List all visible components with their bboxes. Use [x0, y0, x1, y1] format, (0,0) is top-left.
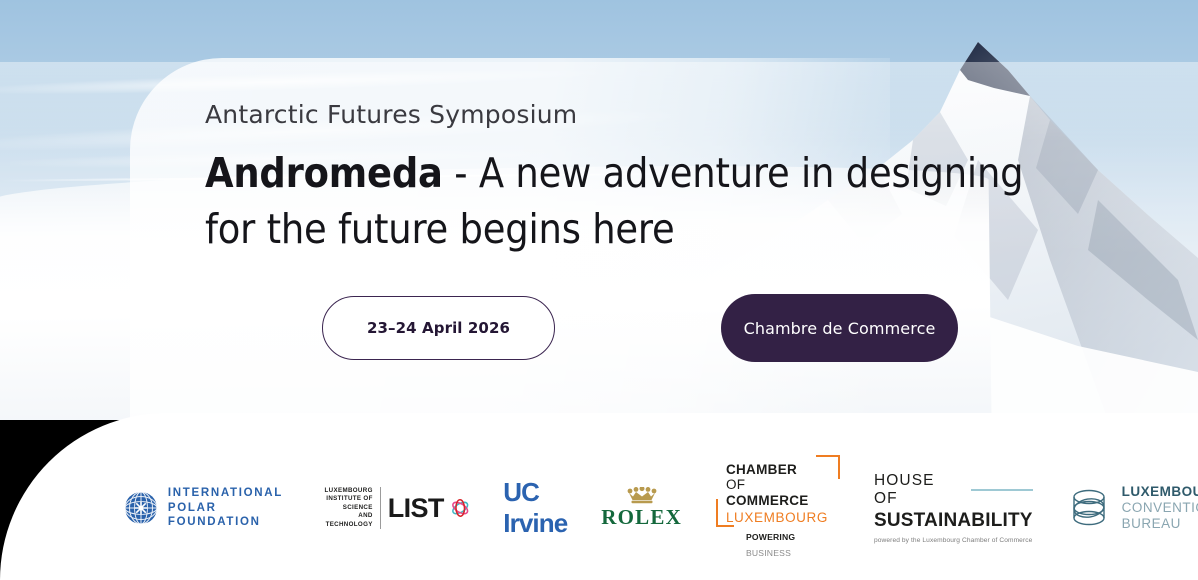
coc-line-2-commerce: COMMERCE — [726, 493, 809, 508]
lcb-text: LUXEMBOURG CONVENTION BUREAU — [1122, 484, 1198, 532]
globe-icon — [124, 491, 158, 525]
lcb-line-1: LUXEMBOURG — [1122, 484, 1198, 500]
logo-house-of-sustainability[interactable]: HOUSE OF SUSTAINABILITY powered by the L… — [874, 472, 1033, 544]
logo-luxembourg-convention-bureau[interactable]: LUXEMBOURG CONVENTION BUREAU — [1067, 484, 1198, 532]
coc-line-2-of: OF — [726, 477, 745, 492]
logo-rolex[interactable]: ROLEX — [601, 487, 682, 530]
hero-banner-page: Antarctic Futures Symposium Andromeda - … — [0, 0, 1198, 580]
list-subtitle: LUXEMBOURG INSTITUTE OF SCIENCE AND TECH… — [317, 487, 381, 529]
headline-lead: Andromeda — [205, 149, 443, 197]
hero-text-block: Antarctic Futures Symposium Andromeda - … — [205, 100, 1105, 257]
lcb-line-2: CONVENTION — [1122, 500, 1198, 516]
logo-text: INTERNATIONAL POLAR FOUNDATION — [168, 486, 283, 530]
logo-chamber-of-commerce-luxembourg[interactable]: CHAMBER OF COMMERCE LUXEMBOURG POWERING … — [716, 455, 840, 561]
list-sphere-icon — [451, 495, 469, 521]
logo-international-polar-foundation[interactable]: INTERNATIONAL POLAR FOUNDATION — [124, 486, 283, 530]
coc-tagline: POWERING BUSINESS — [726, 529, 828, 561]
hos-top-row: HOUSE OF — [874, 472, 1033, 508]
hos-rule-divider — [971, 489, 1033, 491]
list-sub-line-3: AND TECHNOLOGY — [317, 512, 373, 529]
ipf-line-2: POLAR — [168, 501, 283, 516]
hero-eyebrow: Antarctic Futures Symposium — [205, 100, 1105, 129]
coc-line-1: CHAMBER — [726, 462, 797, 477]
list-sub-line-1: LUXEMBOURG — [317, 487, 373, 495]
page-title: Andromeda - A new adventure in designing… — [205, 145, 1075, 257]
hos-tagline: powered by the Luxembourg Chamber of Com… — [874, 537, 1032, 544]
hos-line-1: HOUSE OF — [874, 472, 963, 508]
bracket-bottom-left-icon — [716, 499, 734, 527]
hos-line-2: SUSTAINABILITY — [874, 510, 1033, 532]
ipf-line-3: FOUNDATION — [168, 515, 283, 530]
coc-tagline-powering: POWERING — [746, 532, 795, 542]
crown-icon — [627, 487, 657, 504]
coc-line-2: OF COMMERCE — [726, 477, 828, 509]
partner-logo-footer: INTERNATIONAL POLAR FOUNDATION LUXEMBOUR… — [0, 413, 1198, 580]
logo-luxembourg-institute-of-science-and-technology[interactable]: LUXEMBOURG INSTITUTE OF SCIENCE AND TECH… — [317, 487, 469, 529]
list-wordmark: LIST — [388, 493, 444, 524]
bracket-top-right-icon — [816, 455, 840, 479]
logo-uc-irvine[interactable]: UC Irvine — [503, 477, 567, 539]
coc-tagline-business: BUSINESS — [746, 548, 791, 558]
ipf-line-1: INTERNATIONAL — [168, 486, 283, 501]
coc-line-3: LUXEMBOURG — [726, 509, 828, 526]
list-sub-line-2: INSTITUTE OF SCIENCE — [317, 495, 373, 512]
uc-irvine-wordmark: UC Irvine — [503, 477, 567, 539]
cylinder-icon — [1067, 486, 1111, 530]
rolex-wordmark: ROLEX — [601, 505, 682, 530]
hero-button-row: 23–24 April 2026 Chambre de Commerce — [322, 294, 958, 362]
lcb-line-3: BUREAU — [1122, 516, 1198, 532]
logo-strip: INTERNATIONAL POLAR FOUNDATION LUXEMBOUR… — [0, 455, 1198, 561]
event-date-button[interactable]: 23–24 April 2026 — [322, 296, 555, 360]
event-venue-button[interactable]: Chambre de Commerce — [721, 294, 958, 362]
